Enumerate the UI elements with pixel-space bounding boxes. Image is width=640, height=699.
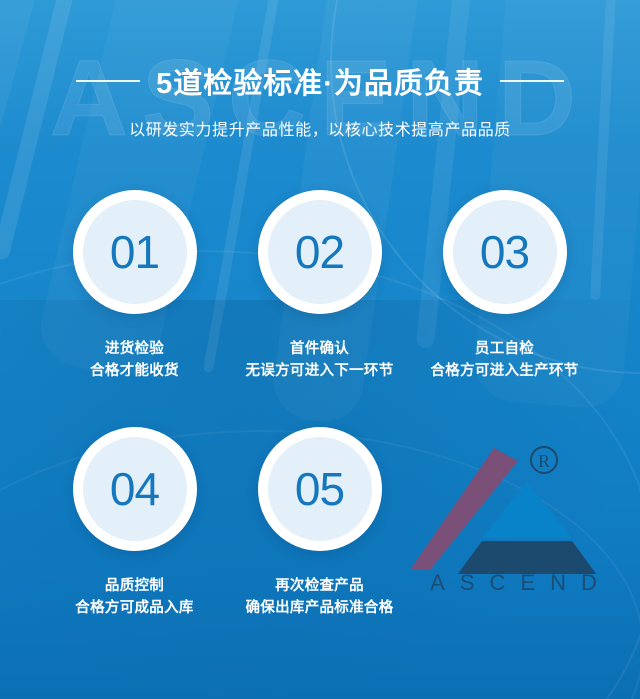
logo-blue-triangle [482,482,572,538]
step-circle-inner: 03 [453,200,557,304]
step-circle-inner: 04 [83,437,187,541]
step-caption: 员工自检 合格方可进入生产环节 [431,338,579,382]
title-rule-left [76,80,140,82]
step-circle-04: 04 [73,427,197,551]
step-caption-line-2: 合格才能收货 [90,360,179,382]
step-circle-03: 03 [443,190,567,314]
step-caption-line-1: 品质控制 [75,575,193,597]
step-number: 05 [295,466,344,512]
step-circle-05: 05 [258,427,382,551]
step-caption-line-1: 员工自检 [431,338,579,360]
step-caption-line-2: 合格方可进入生产环节 [431,360,579,382]
title-row: 5道检验标准·为品质负责 [0,60,640,102]
step-caption: 品质控制 合格方可成品入库 [75,575,193,619]
steps-row-1: 01 进货检验 合格才能收货 02 首件确认 无误方可进入下一环节 [0,190,640,382]
step-caption: 再次检查产品 确保出库产品标准合格 [246,575,394,619]
step-caption-line-2: 确保出库产品标准合格 [246,597,394,619]
logo-wordmark: ASCEND [416,570,626,596]
step-number: 01 [110,229,159,275]
step-circle-02: 02 [258,190,382,314]
step-circle-inner: 05 [268,437,372,541]
step-circle-01: 01 [73,190,197,314]
svg-text:R: R [538,451,550,471]
step-caption-line-1: 再次检查产品 [246,575,394,597]
page-title: 5道检验标准·为品质负责 [156,60,484,102]
step-number: 04 [110,466,159,512]
step-number: 03 [480,229,529,275]
step-caption-line-1: 进货检验 [90,338,179,360]
header: 5道检验标准·为品质负责 以研发实力提升产品性能，以核心技术提高产品品质 [0,60,640,140]
step-circle-inner: 01 [83,200,187,304]
promo-poster: ASCEND 5道检验标准·为品质负责 以研发实力提升产品性能，以核心技术提高产… [0,0,640,699]
step-caption-line-1: 首件确认 [246,338,394,360]
step-item-03: 03 员工自检 合格方可进入生产环节 [412,190,597,382]
step-item-04: 04 品质控制 合格方可成品入库 [42,427,227,619]
step-number: 02 [295,229,344,275]
step-caption: 首件确认 无误方可进入下一环节 [246,338,394,382]
page-subtitle: 以研发实力提升产品性能，以核心技术提高产品品质 [0,116,640,140]
step-caption-line-2: 合格方可成品入库 [75,597,193,619]
step-caption: 进货检验 合格才能收货 [90,338,179,382]
registered-icon: R [531,447,557,473]
ascend-logo: R ASCEND [408,434,632,609]
step-item-01: 01 进货检验 合格才能收货 [42,190,227,382]
ascend-logo-mark: R [408,434,632,574]
title-rule-right [500,80,564,82]
step-item-02: 02 首件确认 无误方可进入下一环节 [227,190,412,382]
step-item-05: 05 再次检查产品 确保出库产品标准合格 [227,427,412,619]
step-circle-inner: 02 [268,200,372,304]
step-caption-line-2: 无误方可进入下一环节 [246,360,394,382]
